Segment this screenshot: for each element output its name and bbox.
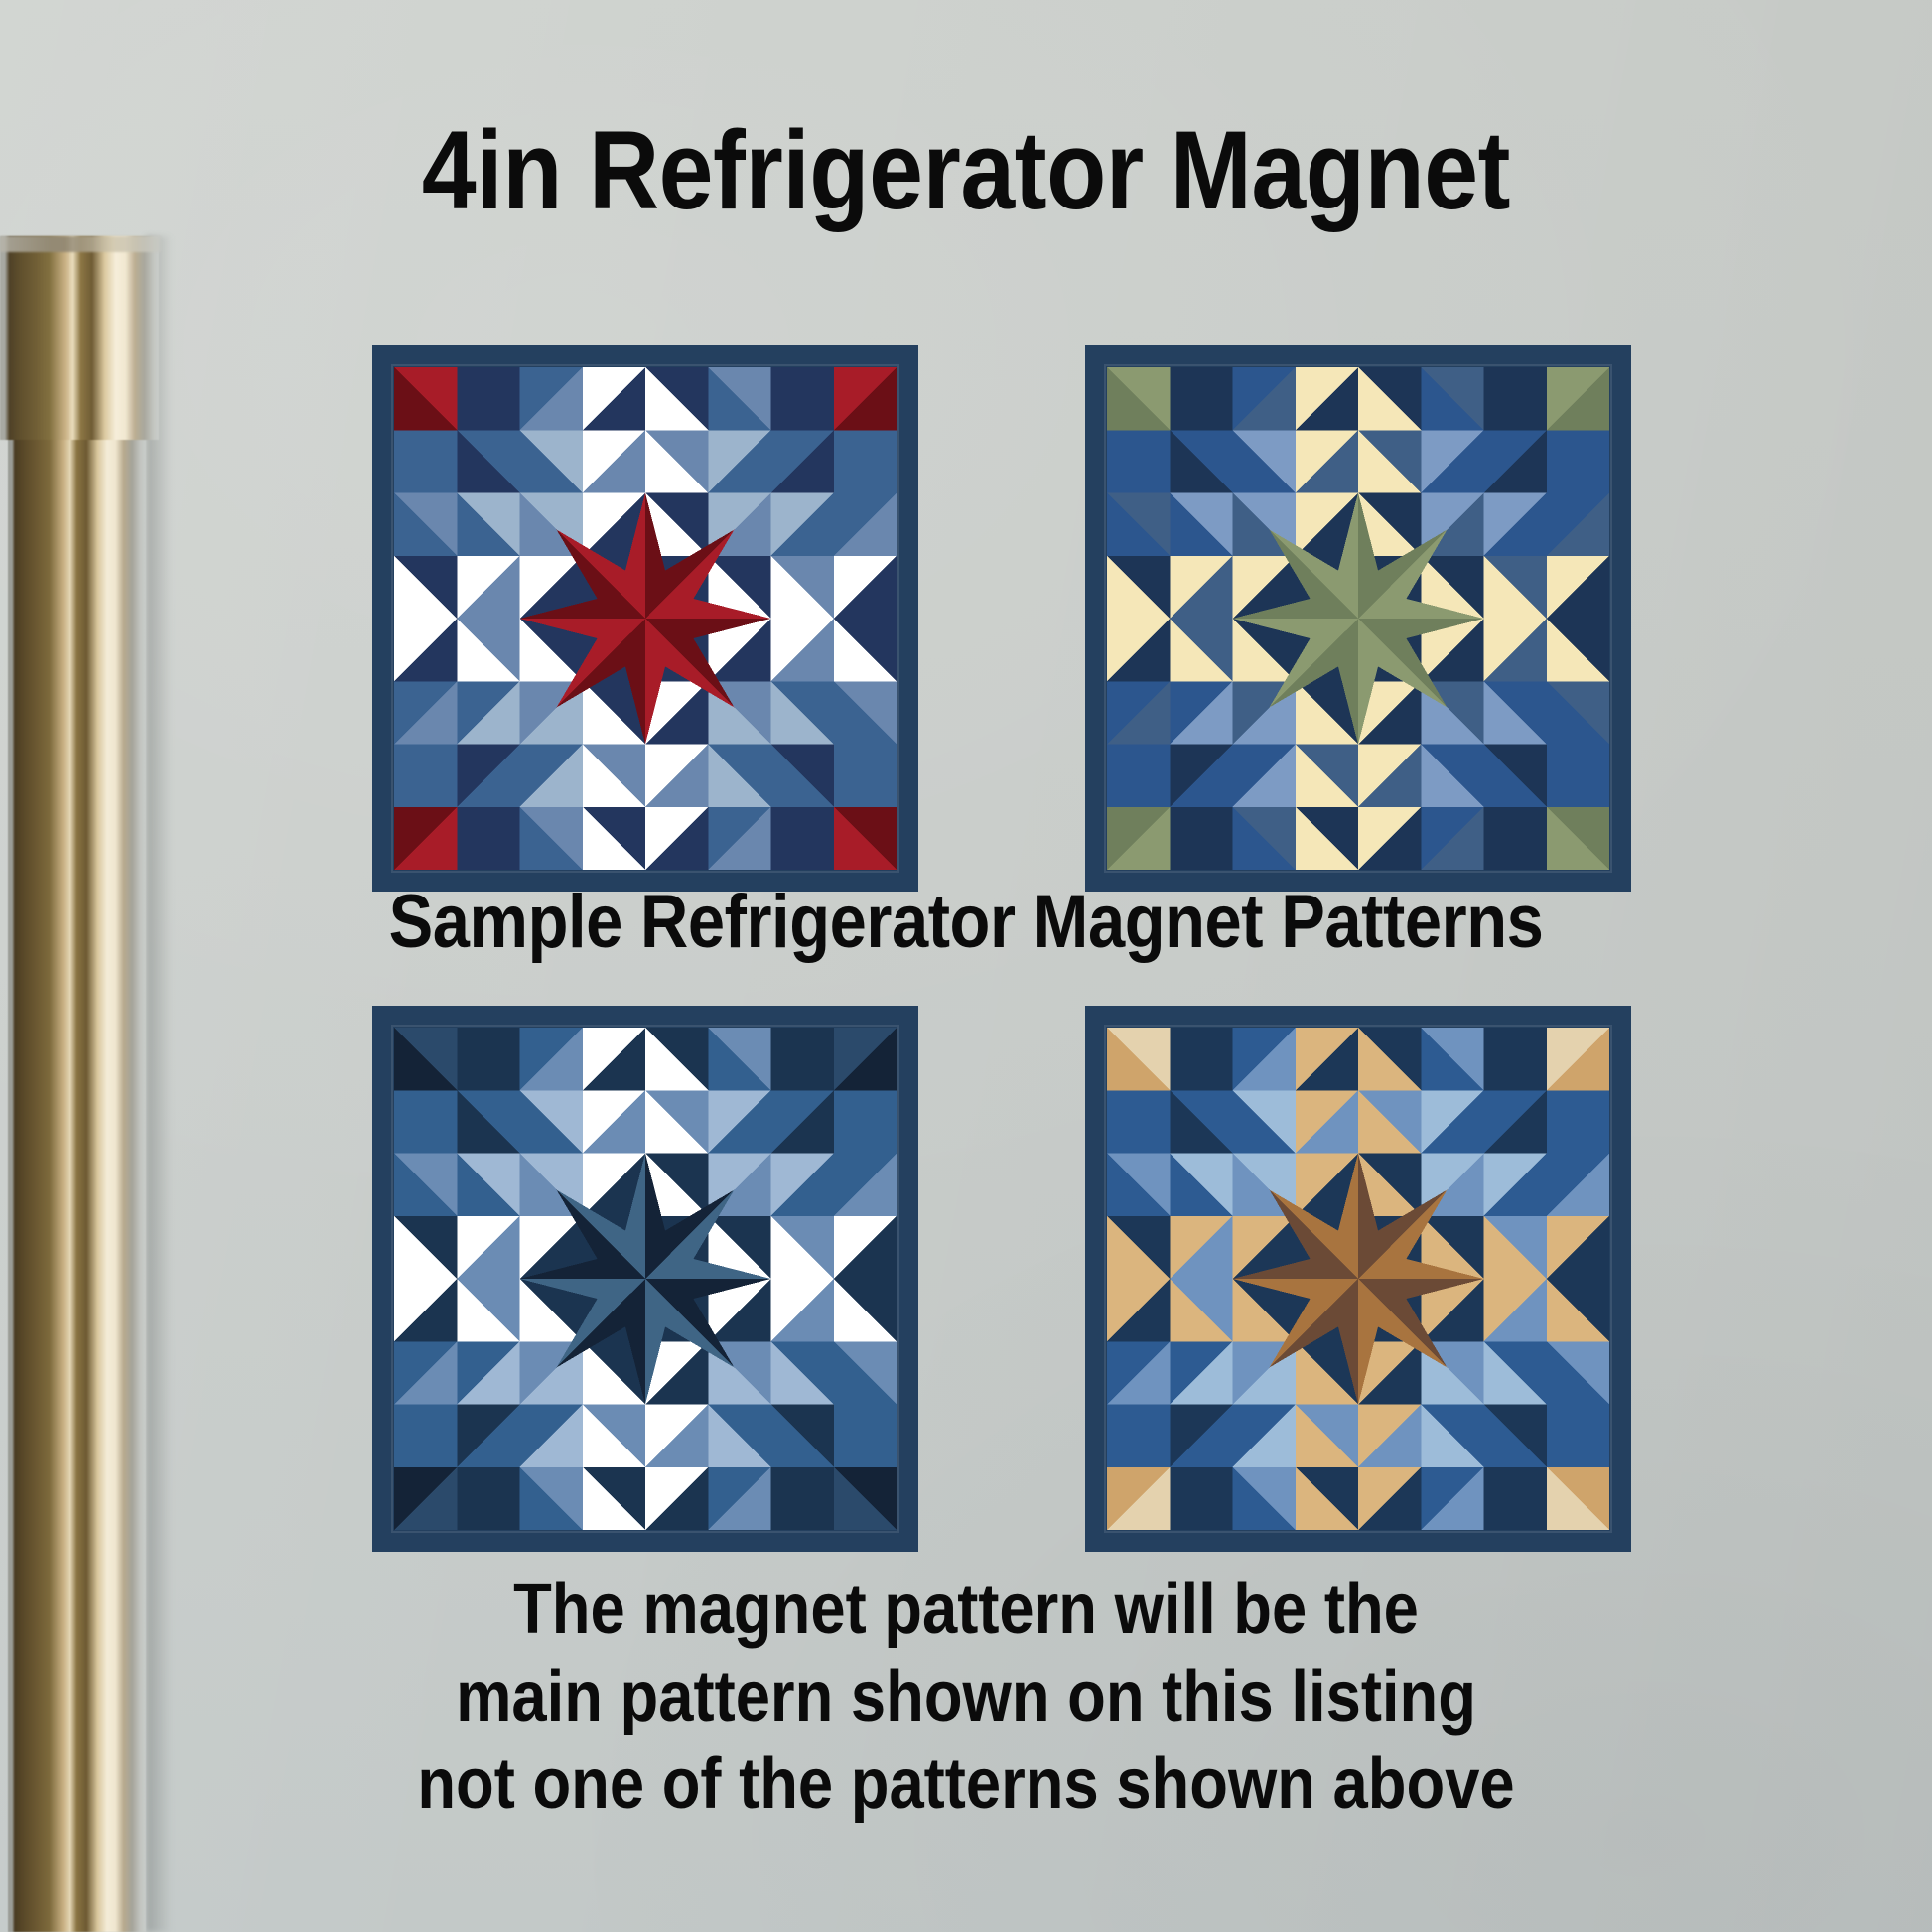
page-title: 4in Refrigerator Magnet xyxy=(116,115,1816,226)
handle-collar-cap xyxy=(0,236,161,252)
disclaimer-line-3: not one of the patterns shown above xyxy=(116,1741,1816,1829)
disclaimer-line-2: main pattern shown on this listing xyxy=(116,1654,1816,1741)
disclaimer-note: The magnet pattern will be the main patt… xyxy=(116,1567,1816,1828)
quilt-pattern-top-left xyxy=(372,345,918,892)
handle-collar xyxy=(0,236,159,440)
quilt-pattern-bottom-left xyxy=(372,1006,918,1552)
disclaimer-line-1: The magnet pattern will be the xyxy=(116,1567,1816,1654)
quilt-pattern-top-right xyxy=(1085,345,1631,892)
quilt-pattern-bottom-right xyxy=(1085,1006,1631,1552)
sample-patterns-caption: Sample Refrigerator Magnet Patterns xyxy=(116,885,1816,960)
